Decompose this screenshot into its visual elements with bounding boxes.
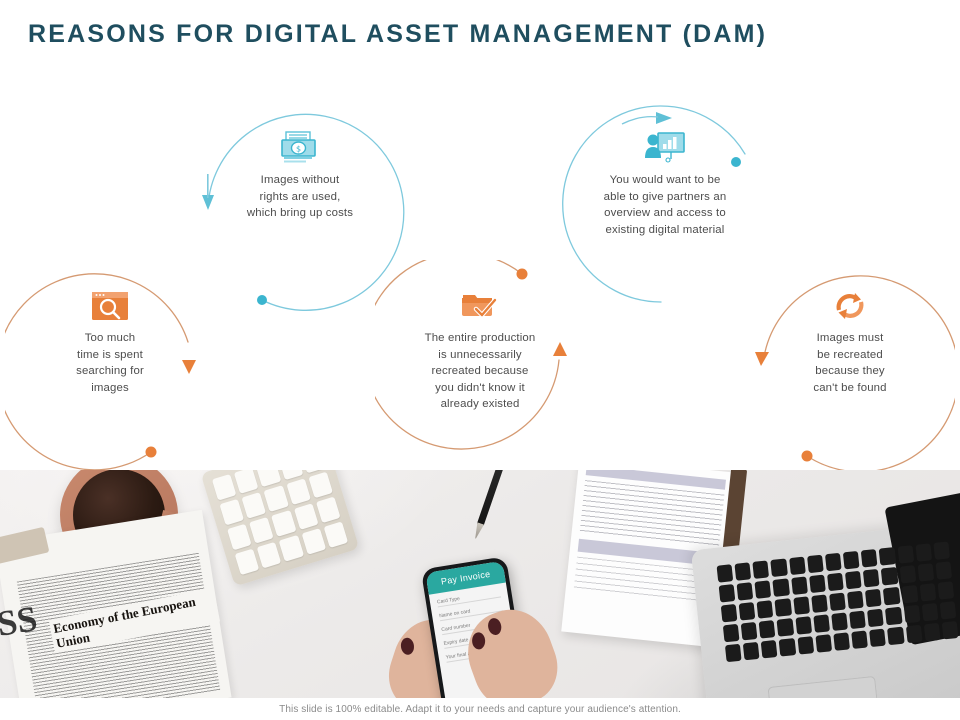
node-production-recreated[interactable]: The entire production is unnecessarily r…	[375, 260, 585, 470]
node-partner-overview[interactable]: You would want to be able to give partne…	[560, 102, 770, 312]
fingernail	[472, 632, 486, 649]
money-document-icon: $	[277, 130, 323, 166]
reasons-diagram: $ Images without rights are used, which …	[0, 80, 960, 470]
newspaper-object: SS Economy of the European Union	[0, 510, 232, 698]
node-label: Images without rights are used, which br…	[207, 172, 393, 222]
invoice-line-items	[580, 480, 725, 546]
svg-text:$: $	[296, 145, 301, 154]
page-title: REASONS FOR DIGITAL ASSET MANAGEMENT (DA…	[28, 20, 767, 49]
slide-root: REASONS FOR DIGITAL ASSET MANAGEMENT (DA…	[0, 0, 960, 720]
node-label: Images must be recreated because they ca…	[757, 330, 943, 396]
fingernail	[400, 637, 415, 655]
browser-search-icon	[87, 288, 133, 324]
folder-check-icon	[457, 288, 503, 324]
footer-note: This slide is 100% editable. Adapt it to…	[0, 698, 960, 720]
newspaper-masthead: SS	[0, 597, 40, 645]
laptop-trackpad	[768, 676, 880, 698]
refresh-sync-icon	[827, 288, 873, 324]
laptop-object	[691, 523, 960, 698]
laptop-keyboard	[717, 541, 960, 683]
node-images-without-rights[interactable]: $ Images without rights are used, which …	[195, 102, 405, 312]
fingernail	[487, 617, 503, 636]
node-label: You would want to be able to give partne…	[567, 172, 763, 238]
node-time-spent-searching[interactable]: Too much time is spent searching for ima…	[5, 260, 215, 470]
node-label: Too much time is spent searching for ima…	[17, 330, 203, 396]
desk-flatlay-photo: SS Economy of the European Union Pay Inv…	[0, 470, 960, 698]
presenter-chart-icon	[642, 130, 688, 166]
node-images-recreated[interactable]: Images must be recreated because they ca…	[745, 260, 955, 470]
node-label: The entire production is unnecessarily r…	[382, 330, 578, 413]
